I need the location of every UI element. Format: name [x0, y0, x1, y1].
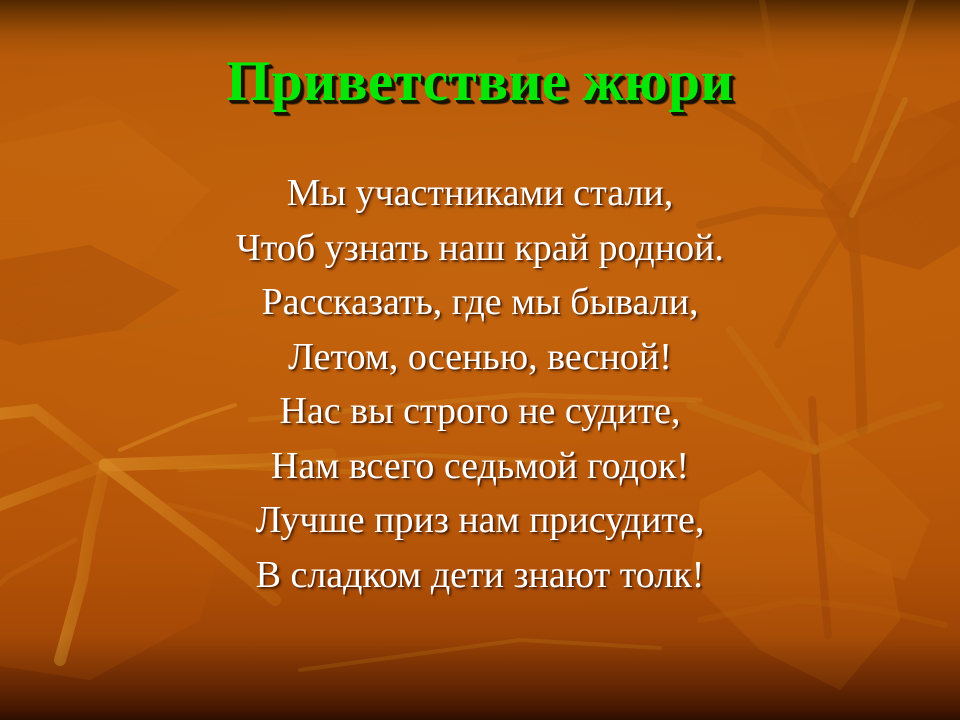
- poem-line: Рассказать, где мы бывали,: [0, 275, 960, 330]
- poem-line: Нас вы строго не судите,: [0, 384, 960, 439]
- poem-line: Лучше приз нам присудите,: [0, 493, 960, 548]
- poem-line: Нам всего седьмой годок!: [0, 439, 960, 494]
- presentation-slide: Приветствие жюри Мы участниками стали, Ч…: [0, 0, 960, 720]
- poem-line: Мы участниками стали,: [0, 166, 960, 221]
- poem-line: Чтоб узнать наш край родной.: [0, 221, 960, 276]
- poem-line: Летом, осенью, весной!: [0, 330, 960, 385]
- slide-title-block: Приветствие жюри: [0, 52, 960, 112]
- slide-title: Приветствие жюри: [226, 52, 734, 112]
- poem-line: В сладком дети знают толк!: [0, 548, 960, 603]
- poem-text-block: Мы участниками стали, Чтоб узнать наш кр…: [0, 166, 960, 602]
